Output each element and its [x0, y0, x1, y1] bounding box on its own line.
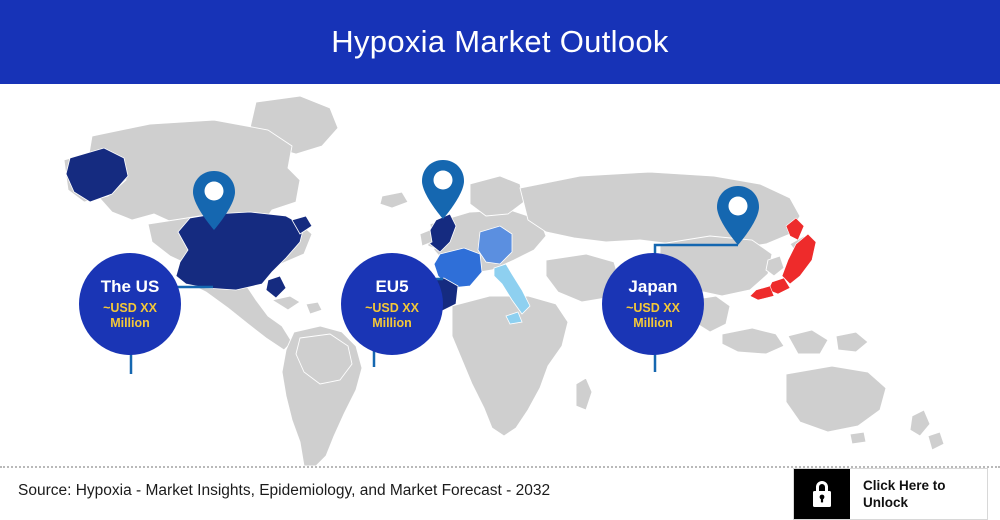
region-label-eu5: EU5	[375, 277, 408, 296]
region-value-amount-eu5: ~USD XX	[365, 301, 419, 315]
page-title: Hypoxia Market Outlook	[331, 24, 668, 60]
region-value-amount-japan: ~USD XX	[626, 301, 680, 315]
region-value-unit-eu5: Million	[372, 316, 412, 330]
region-bubble-japan[interactable]: Japan ~USD XX Million	[602, 253, 704, 355]
lock-icon-container	[794, 469, 850, 519]
map-stage: The US ~USD XX Million EU5 ~USD XX Milli…	[0, 84, 1000, 466]
region-label-us: The US	[101, 277, 160, 296]
source-citation: Source: Hypoxia - Market Insights, Epide…	[18, 482, 550, 500]
map-pin-eu5[interactable]	[422, 160, 464, 219]
region-value-us: ~USD XX Million	[93, 301, 167, 331]
region-value-amount-us: ~USD XX	[103, 301, 157, 315]
unlock-button-label: Click Here to Unlock	[850, 469, 981, 519]
region-bubble-us[interactable]: The US ~USD XX Million	[79, 253, 181, 355]
region-value-unit-japan: Million	[633, 316, 673, 330]
region-value-eu5: ~USD XX Million	[355, 301, 429, 331]
region-value-unit-us: Million	[110, 316, 150, 330]
region-label-japan: Japan	[628, 277, 677, 296]
lock-icon	[809, 478, 835, 510]
header-bar: Hypoxia Market Outlook	[0, 0, 1000, 84]
unlock-button[interactable]: Click Here to Unlock	[793, 468, 988, 520]
region-value-japan: ~USD XX Million	[616, 301, 690, 331]
region-bubble-eu5[interactable]: EU5 ~USD XX Million	[341, 253, 443, 355]
market-outlook-infographic: Hypoxia Market Outlook	[0, 0, 1000, 520]
